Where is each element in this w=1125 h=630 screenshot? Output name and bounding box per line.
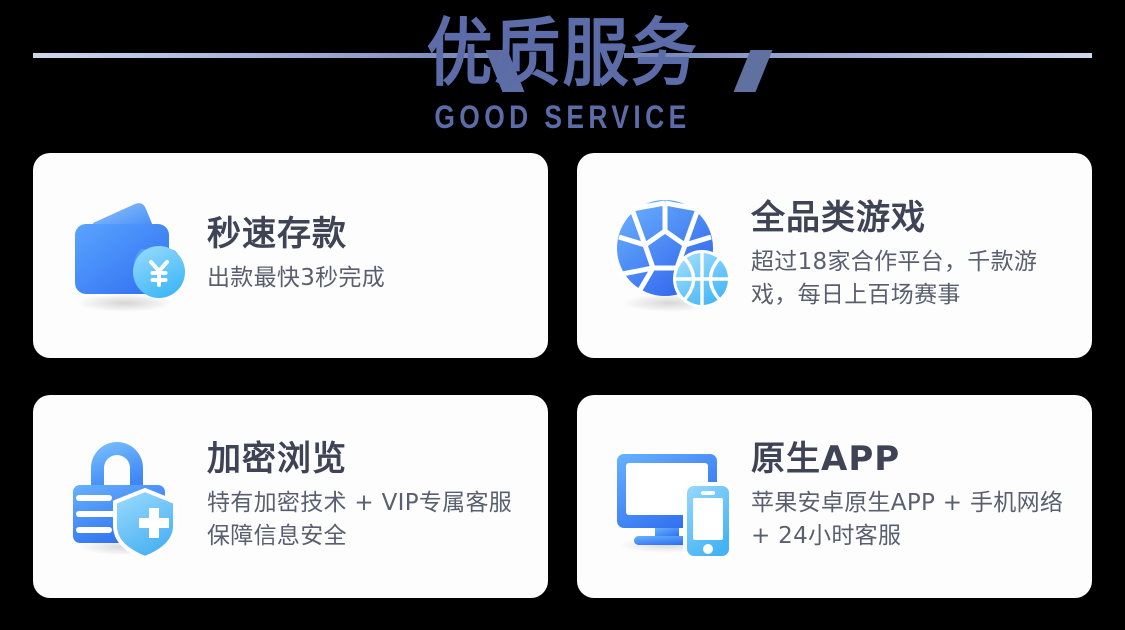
monitor-phone-icon (607, 432, 745, 562)
feature-card-text: 全品类游戏 超过18家合作平台，千款游戏，每日上百场赛事 (745, 199, 1092, 313)
page-header: 优质服务 GOOD SERVICE (0, 0, 1125, 150)
feature-description: 出款最快3秒完成 (207, 262, 534, 295)
wallet-coin-icon (63, 191, 201, 321)
feature-title: 加密浏览 (207, 440, 534, 479)
feature-title: 全品类游戏 (751, 199, 1078, 238)
feature-description: 特有加密技术 + VIP专属客服保障信息安全 (207, 487, 534, 554)
page-subtitle: GOOD SERVICE (68, 100, 1058, 137)
page-title: 优质服务 (0, 8, 1125, 100)
feature-card-deposit[interactable]: 秒速存款 出款最快3秒完成 (33, 153, 548, 358)
feature-card-native-app[interactable]: 原生APP 苹果安卓原生APP + 手机网络 + 24小时客服 (577, 395, 1092, 598)
feature-card-text: 加密浏览 特有加密技术 + VIP专属客服保障信息安全 (201, 440, 548, 554)
feature-title: 秒速存款 (207, 215, 534, 254)
feature-description: 苹果安卓原生APP + 手机网络 + 24小时客服 (751, 487, 1078, 554)
soccer-basketball-icon (607, 191, 745, 321)
feature-card-text: 秒速存款 出款最快3秒完成 (201, 215, 548, 295)
feature-title: 原生APP (751, 440, 1078, 479)
feature-card-games[interactable]: 全品类游戏 超过18家合作平台，千款游戏，每日上百场赛事 (577, 153, 1092, 358)
feature-card-text: 原生APP 苹果安卓原生APP + 手机网络 + 24小时客服 (745, 440, 1092, 554)
feature-card-grid: 秒速存款 出款最快3秒完成 (33, 153, 1092, 598)
feature-card-encryption[interactable]: 加密浏览 特有加密技术 + VIP专属客服保障信息安全 (33, 395, 548, 598)
lock-shield-icon (63, 432, 201, 562)
promo-banner: 优质服务 GOOD SERVICE (0, 0, 1125, 630)
feature-description: 超过18家合作平台，千款游戏，每日上百场赛事 (751, 246, 1078, 313)
